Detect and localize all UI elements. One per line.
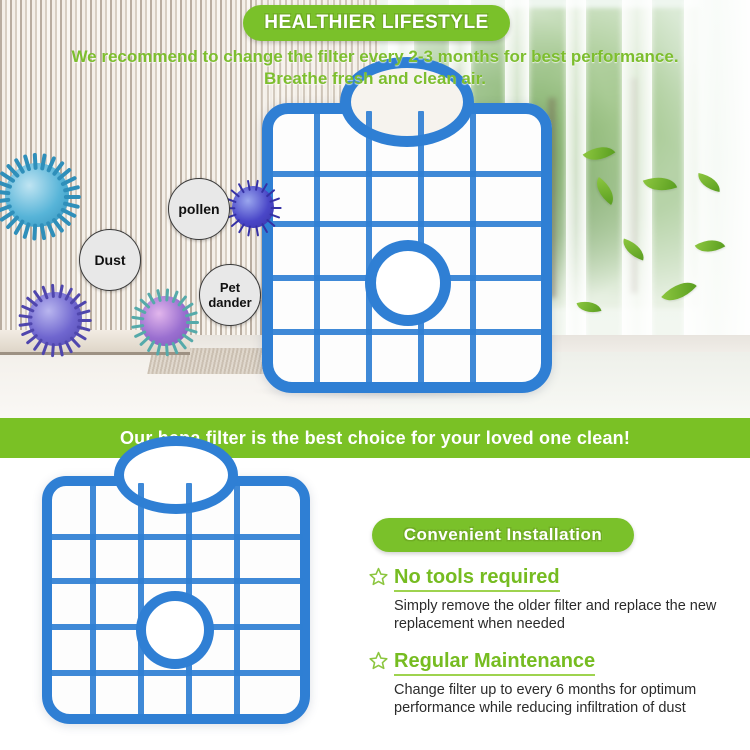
feature-no-tools-required: No tools required Simply remove the olde… — [368, 566, 746, 633]
virus-particle-icon — [5, 163, 69, 227]
headline-badge: HEALTHIER LIFESTYLE — [243, 5, 510, 41]
feature-body: Change filter up to every 6 months for o… — [394, 681, 746, 717]
star-icon — [368, 650, 389, 676]
particle-spike — [78, 319, 92, 322]
filter-grid-line — [470, 111, 476, 385]
installation-badge: Convenient Installation — [372, 518, 634, 552]
filter-grid-line — [49, 670, 303, 676]
filter-grid-line — [270, 171, 544, 177]
virus-particle-icon — [28, 292, 82, 346]
subtitle-line-2: Breathe fresh and clean air. — [40, 68, 710, 90]
virus-particle-icon — [232, 186, 274, 228]
filter-grid-line — [270, 221, 544, 227]
callout-label: Pet dander — [200, 280, 260, 310]
feature-regular-maintenance: Regular Maintenance Change filter up to … — [368, 650, 746, 717]
filter-center-hole — [365, 240, 451, 326]
headline-badge-text: HEALTHIER LIFESTYLE — [264, 12, 488, 34]
filter-grid-line — [234, 483, 240, 717]
filter-grid-line — [49, 578, 303, 584]
virus-particle-icon — [140, 296, 190, 346]
bottom-section: Convenient Installation No tools require… — [0, 458, 750, 750]
callout-label: pollen — [178, 202, 219, 217]
subtitle: We recommend to change the filter every … — [40, 46, 710, 90]
filter-grid-line — [138, 483, 144, 717]
top-scene: Dust pollen Pet dander HEALTHIER LIFESTY… — [0, 0, 750, 418]
filter-grid-line — [90, 483, 96, 717]
filter-top-notch — [114, 436, 238, 514]
callout-dust: Dust — [79, 229, 141, 291]
feature-body: Simply remove the older filter and repla… — [394, 597, 746, 633]
particle-spike — [186, 321, 199, 324]
hepa-filter-product-secondary — [42, 476, 310, 724]
particle-spike — [64, 195, 81, 199]
callout-pollen: pollen — [168, 178, 230, 240]
filter-grid-line — [366, 111, 372, 385]
filter-center-hole — [136, 591, 214, 669]
subtitle-line-1: We recommend to change the filter every … — [40, 46, 710, 68]
filter-grid-line — [270, 329, 544, 335]
callout-pet-dander: Pet dander — [199, 264, 261, 326]
callout-label: Dust — [94, 253, 125, 268]
filter-grid-line — [314, 111, 320, 385]
feature-title: No tools required — [394, 566, 560, 592]
feature-title: Regular Maintenance — [394, 650, 595, 676]
star-icon — [368, 566, 389, 592]
particle-spike — [271, 207, 282, 209]
product-marketing-image: Dust pollen Pet dander HEALTHIER LIFESTY… — [0, 0, 750, 750]
installation-badge-text: Convenient Installation — [404, 525, 603, 545]
promo-banner: Our hepa filter is the best choice for y… — [0, 418, 750, 458]
filter-grid-line — [49, 534, 303, 540]
hepa-filter-product-main — [262, 103, 552, 393]
